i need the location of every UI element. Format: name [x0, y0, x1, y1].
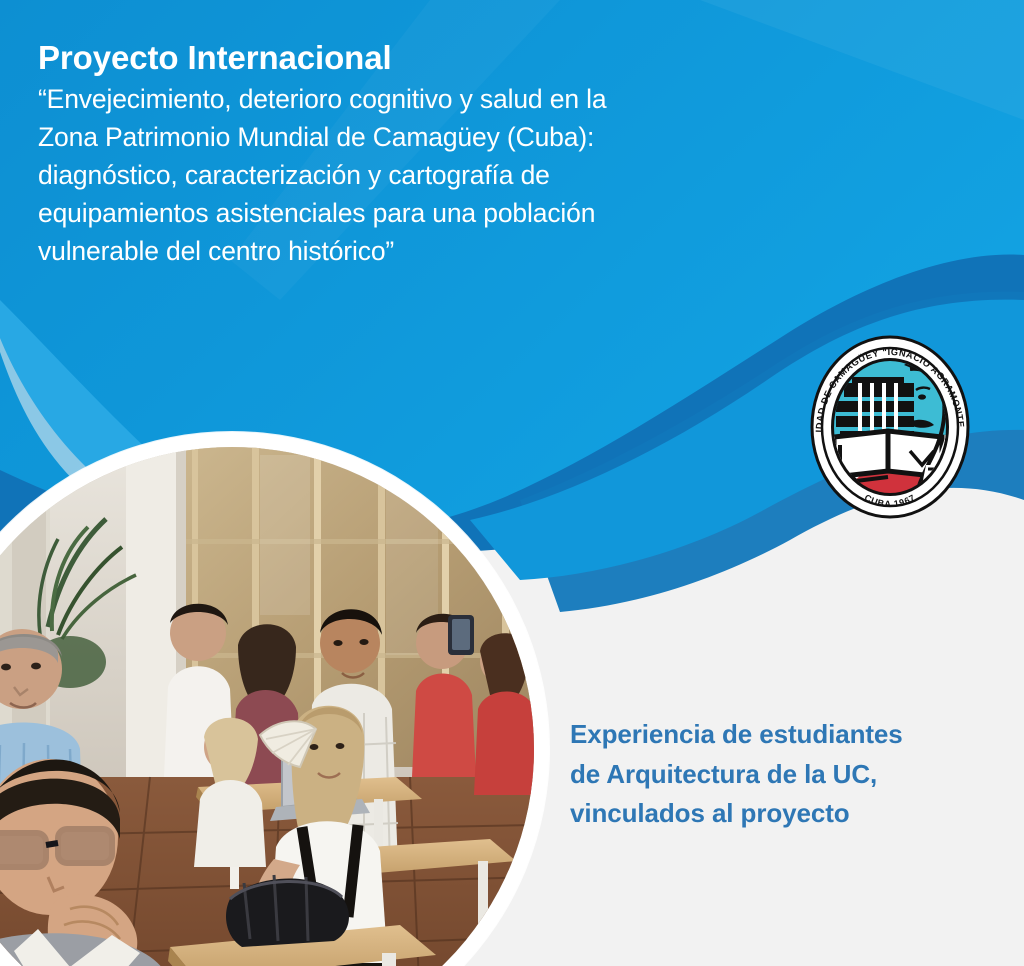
- page-title: Proyecto Internacional: [38, 38, 778, 78]
- photo-caption: Experiencia de estudiantes de Arquitectu…: [570, 715, 990, 834]
- classroom-photo-illustration: [0, 447, 534, 966]
- classroom-photo: [0, 447, 534, 966]
- title-block: Proyecto Internacional “Envejecimiento, …: [38, 38, 778, 271]
- poster-canvas: Proyecto Internacional “Envejecimiento, …: [0, 0, 1024, 966]
- photo-wall-frame: [0, 465, 6, 537]
- university-seal: UNIVERSIDAD DE CAMAGÜEY "IGNACIO AGRAMON…: [800, 325, 980, 530]
- project-subtitle: “Envejecimiento, deterioro cognitivo y s…: [38, 81, 778, 270]
- university-seal-icon: UNIVERSIDAD DE CAMAGÜEY "IGNACIO AGRAMON…: [800, 325, 980, 530]
